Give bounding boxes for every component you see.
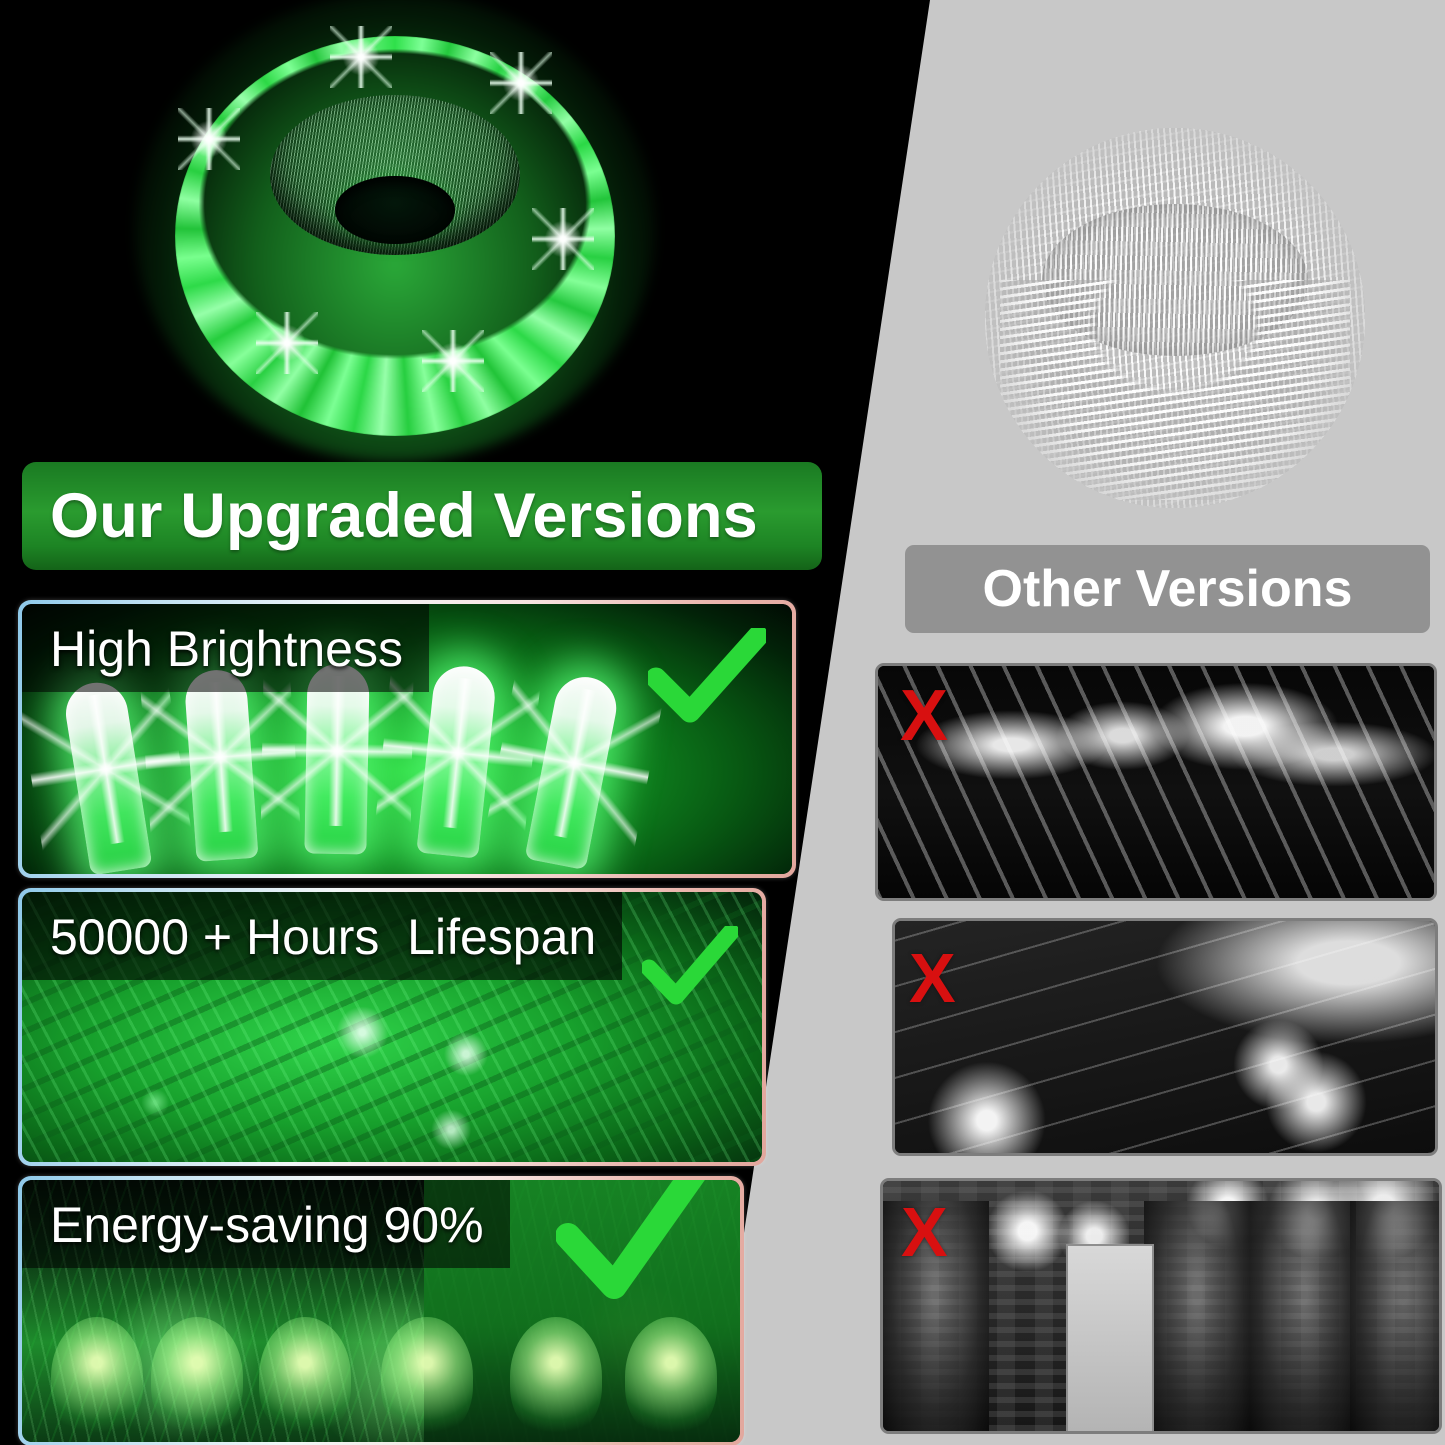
led-bulb: [304, 663, 369, 854]
cross-icon: X: [900, 680, 948, 752]
led-bulb: [183, 668, 258, 862]
led-bulb: [524, 672, 621, 870]
decorated-bush: [1250, 1201, 1356, 1431]
upgraded-versions-banner: Our Upgraded Versions: [22, 462, 822, 570]
white-coil-graphic: [985, 128, 1365, 508]
front-door: [1066, 1244, 1153, 1433]
green-light-coil-hero: [95, 0, 695, 462]
house-entrance-image: [883, 1181, 1439, 1431]
lit-tree: [51, 1317, 143, 1437]
feature-card-high-brightness: High Brightness: [18, 600, 796, 878]
cross-icon: X: [901, 1197, 948, 1267]
comparison-infographic: Our Upgraded Versions High Brightness 50…: [0, 0, 1445, 1445]
other-versions-banner: Other Versions: [905, 545, 1430, 633]
lit-tree: [510, 1317, 602, 1437]
white-light-coil-hero: [985, 128, 1365, 508]
feature-card-lifespan: 50000 + Hours Lifespan: [18, 888, 766, 1166]
lit-tree: [381, 1317, 473, 1437]
feature-card-energy-saving: Energy-saving 90%: [18, 1176, 744, 1445]
dull-bulbs-image: [878, 666, 1434, 898]
led-bulb: [62, 678, 153, 874]
other-card-dull-bulbs: X: [875, 663, 1437, 901]
coil-center-hole: [335, 176, 455, 244]
feature-label-high-brightness: High Brightness: [22, 604, 429, 692]
check-icon: [642, 926, 738, 1008]
other-card-dim-fairy-lights: X: [892, 918, 1438, 1156]
feature-label-lifespan: 50000 + Hours Lifespan: [22, 892, 622, 980]
dim-fairy-lights-image: [895, 921, 1435, 1153]
other-versions-title: Other Versions: [983, 563, 1353, 615]
cross-icon: X: [909, 943, 956, 1013]
check-icon: [556, 1180, 706, 1310]
decorated-bush: [1144, 1201, 1250, 1431]
lit-tree: [259, 1317, 351, 1437]
feature-label-energy-saving: Energy-saving 90%: [22, 1180, 510, 1268]
upgraded-versions-title: Our Upgraded Versions: [22, 485, 758, 548]
other-card-house-entrance: X: [880, 1178, 1442, 1434]
check-icon: [648, 628, 766, 724]
lit-tree: [151, 1317, 243, 1437]
decorated-bush: [1350, 1201, 1442, 1431]
lit-tree: [625, 1317, 717, 1437]
white-coil-vignette: [985, 128, 1365, 508]
led-bulb: [416, 663, 498, 858]
green-coil-graphic: [160, 12, 630, 442]
